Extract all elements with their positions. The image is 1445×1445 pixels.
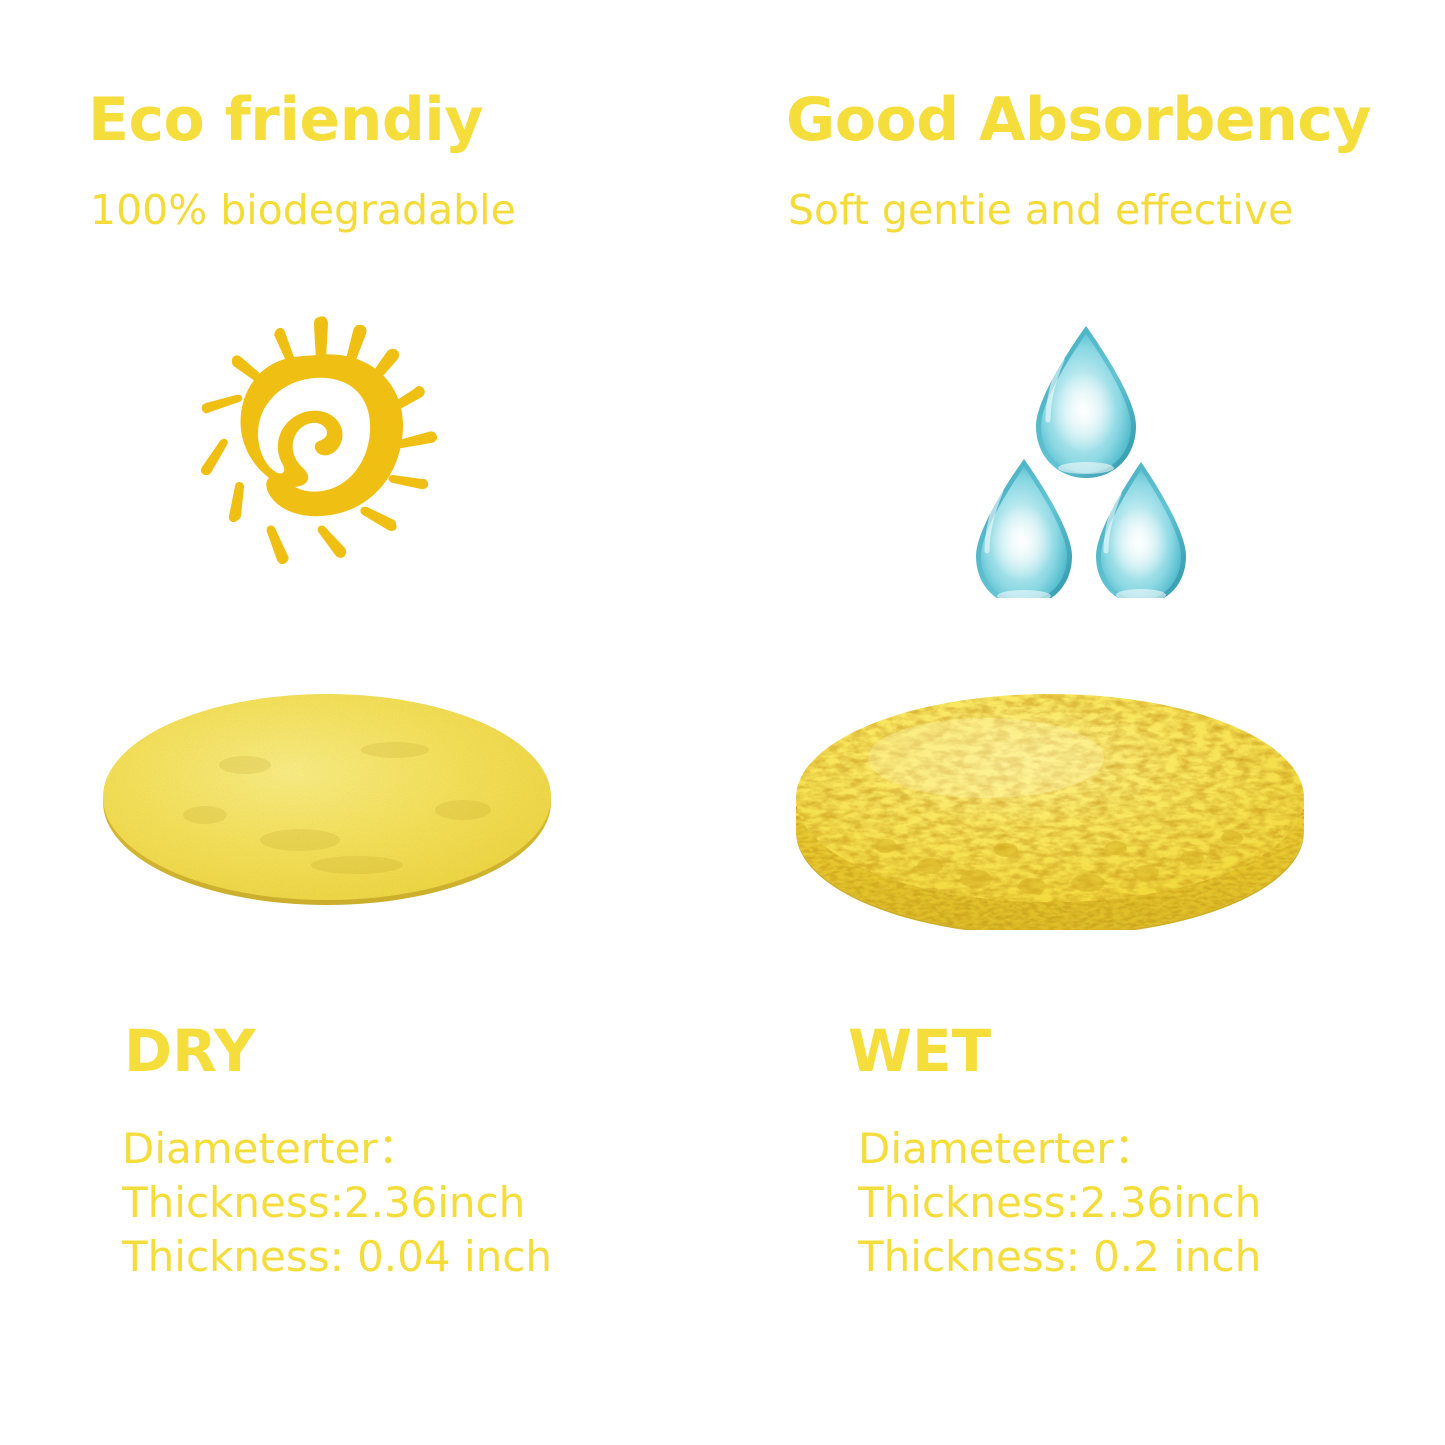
feature-subtitle-absorbency: Soft gentie and effective	[788, 190, 1293, 231]
feature-subtitle-eco: 100% biodegradable	[90, 190, 516, 231]
water-drops-icon	[960, 318, 1210, 598]
feature-title-eco: Eco friendiy	[88, 90, 483, 150]
spec-list-dry: Diameterter： Thickness:2.36inch Thicknes…	[122, 1122, 552, 1284]
spec-list-wet: Diameterter： Thickness:2.36inch Thicknes…	[858, 1122, 1261, 1284]
spec-thickness-b-dry: Thickness: 0.04 inch	[122, 1230, 552, 1284]
state-label-dry: DRY	[124, 1022, 256, 1080]
spec-thickness-a-dry: Thickness:2.36inch	[122, 1176, 552, 1230]
spec-thickness-b-wet: Thickness: 0.2 inch	[858, 1230, 1261, 1284]
product-infographic: Eco friendiy 100% biodegradable	[0, 0, 1445, 1445]
wet-sponge-disc	[780, 670, 1340, 930]
spec-diameter-dry: Diameterter：	[122, 1122, 552, 1176]
spec-thickness-a-wet: Thickness:2.36inch	[858, 1176, 1261, 1230]
spec-diameter-wet: Diameterter：	[858, 1122, 1261, 1176]
state-label-wet: WET	[848, 1022, 991, 1080]
left-feature-column: Eco friendiy 100% biodegradable	[0, 0, 722, 1445]
sun-icon	[188, 305, 458, 580]
feature-title-absorbency: Good Absorbency	[786, 90, 1371, 150]
dry-sponge-disc	[95, 670, 585, 920]
